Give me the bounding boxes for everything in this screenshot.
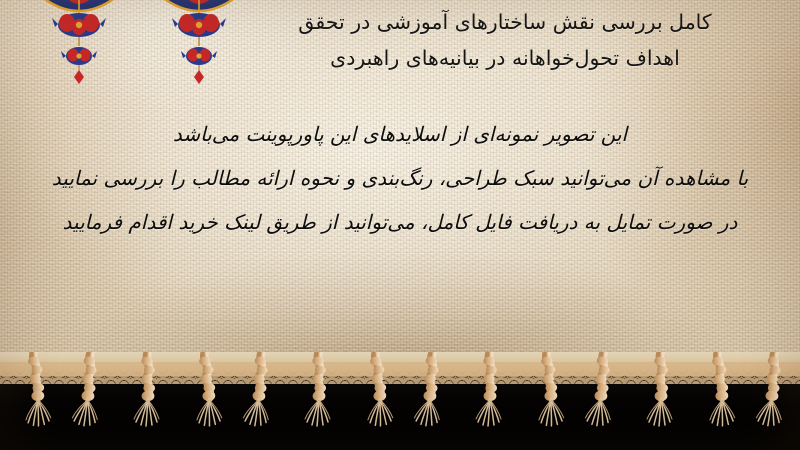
fringe-tassel <box>128 352 168 432</box>
powerpoint-slide: کامل بررسی نقش ساختارهای آموزشی در تحقق … <box>0 0 800 450</box>
slide-title-line-2: اهداف تحول‌خواهانه در بیانیه‌های راهبردی <box>232 40 778 76</box>
fringe-tassel <box>299 352 339 432</box>
fringe-tassel <box>584 352 624 432</box>
fringe-tassel <box>413 352 453 432</box>
fringe-tassel <box>641 352 681 432</box>
body-line-3: در صورت تمایل به دریافت فایل کامل، می‌تو… <box>18 200 782 244</box>
fringe-tassel <box>470 352 510 432</box>
fringe-tassel <box>185 352 225 432</box>
fringe-tassel <box>356 352 396 432</box>
body-line-1: این تصویر نمونه‌ای از اسلایدهای این پاور… <box>18 112 782 156</box>
fringe-tassel <box>242 352 282 432</box>
slide-title: کامل بررسی نقش ساختارهای آموزشی در تحقق … <box>232 4 778 76</box>
body-line-2: با مشاهده آن می‌توانید سبک طراحی، رنگ‌بن… <box>18 156 782 200</box>
fringe-tassel <box>71 352 111 432</box>
slide-body-text: این تصویر نمونه‌ای از اسلایدهای این پاور… <box>18 112 782 244</box>
fringe-tassel <box>755 352 795 432</box>
fringe-tassel <box>698 352 738 432</box>
fringe-tassel <box>527 352 567 432</box>
fringe-tassel <box>14 352 54 432</box>
slide-title-line-1: کامل بررسی نقش ساختارهای آموزشی در تحقق <box>232 4 778 40</box>
carpet-fringe-band <box>0 352 800 450</box>
